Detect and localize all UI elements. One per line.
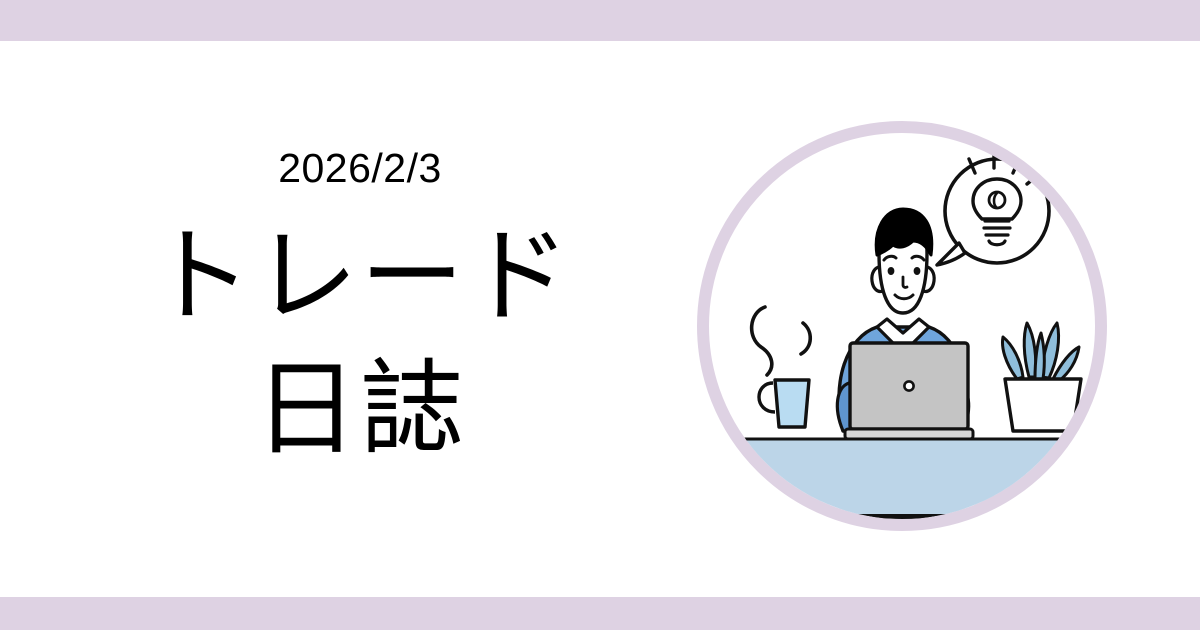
top-accent-band [0,0,1200,41]
eyecatch-canvas: 2026/2/3 トレード 日誌 [0,0,1200,630]
coffee-mug [759,380,809,427]
bottom-accent-band [0,597,1200,630]
open-laptop [845,343,973,439]
page-title-line-2: 日誌 [254,348,466,471]
eye-left [888,267,895,275]
page-title-line-1: トレード [148,215,572,338]
desk-surface [705,439,1099,517]
laptop-logo-icon [904,381,913,390]
illustration-person-working-at-laptop [697,121,1107,531]
post-date: 2026/2/3 [278,148,442,189]
heading-block: 2026/2/3 トレード 日誌 [60,120,660,520]
eye-right [914,267,921,275]
potted-plant [1003,323,1081,431]
steam-icon [752,307,811,375]
person-head [872,209,934,313]
